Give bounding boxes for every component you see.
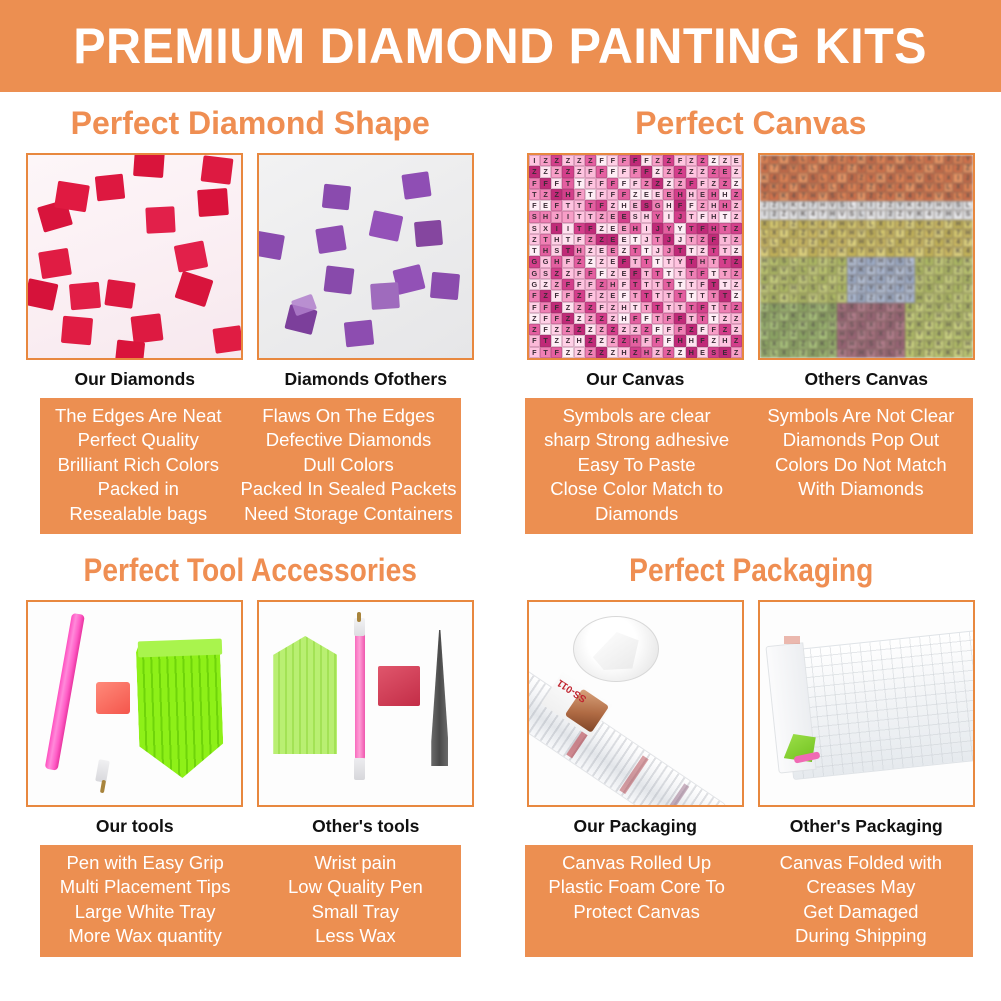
section-title-diamond-shape: Perfect Diamond Shape	[0, 92, 501, 153]
photo-white-tube: SS-011	[527, 600, 744, 807]
pen-cap-icon	[354, 758, 365, 780]
others-tools-art	[259, 602, 472, 805]
section-row-1: Perfect Diamond Shape	[0, 92, 1001, 534]
wax-square-icon	[96, 682, 130, 714]
page-header: PREMIUM DIAMOND PAINTING KITS	[0, 0, 1001, 92]
fact-line: Need Storage Containers	[241, 502, 457, 526]
mailer-art	[760, 602, 973, 805]
section-tools: Perfect Tool Accessories	[0, 552, 501, 957]
card-pair-tools: Our tools	[0, 600, 501, 837]
section-packaging: Perfect Packaging	[501, 552, 1001, 957]
green-tray-rim-icon	[138, 639, 223, 658]
mailer-seam-icon	[784, 636, 800, 644]
section-title-tools: Perfect Tool Accessories	[30, 552, 470, 600]
caption-others-canvas: Others Canvas	[758, 360, 975, 390]
section-title-packaging: Perfect Packaging	[531, 552, 971, 600]
our-tools-art	[28, 602, 241, 805]
fact-line: Resealable bags	[44, 502, 233, 526]
factbox-col-others-canvas: Symbols Are Not Clear Diamonds Pop Out C…	[749, 398, 973, 534]
section-row-2: Perfect Tool Accessories	[0, 552, 1001, 957]
fact-line: Multi Placement Tips	[44, 875, 246, 899]
photo-our-tools	[26, 600, 243, 807]
red-diamonds-art	[28, 155, 241, 358]
photo-purple-diamonds	[257, 153, 474, 360]
factbox-col-our-diamonds: The Edges Are Neat Perfect Quality Brill…	[40, 398, 237, 534]
blurry-canvas-art: 7HVSLXI2ZYK47HVSLXI2ZY47HVSLXI2ZYK47HVSL…	[760, 155, 973, 358]
factbox-canvas: Symbols are clear sharp Strong adhesive …	[525, 398, 974, 534]
fact-line: Packed in	[44, 477, 233, 501]
fact-line: During Shipping	[753, 924, 969, 948]
caption-others-tools: Other's tools	[257, 807, 474, 837]
fact-line: Diamonds	[529, 502, 745, 526]
fact-line: Wrist pain	[254, 851, 456, 875]
fact-line: Protect Canvas	[529, 900, 745, 924]
fact-line: The Edges Are Neat	[44, 404, 233, 428]
factbox-col-our-canvas: Symbols are clear sharp Strong adhesive …	[525, 398, 749, 534]
pink-canvas-art: IZZZZZFFFFFZZFZZZZEZZZZZFFFFFFZZZZZZEZFF…	[529, 155, 742, 358]
fact-line: Low Quality Pen	[254, 875, 456, 899]
canvas-blur-layer: 7HVSLXI2ZYK47HVSLXI2ZY47HVSLXI2ZYK47HVSL…	[760, 155, 973, 358]
factbox-col-our-tools: Pen with Easy Grip Multi Placement Tips …	[40, 845, 250, 957]
factbox-col-others-diamonds: Flaws On The Edges Defective Diamonds Du…	[237, 398, 461, 534]
card-pair-diamond-shape: Our Diamonds	[0, 153, 501, 390]
fact-line: Pen with Easy Grip	[44, 851, 246, 875]
factbox-col-others-packaging: Canvas Folded with Creases May Get Damag…	[749, 845, 973, 957]
factbox-tools: Pen with Easy Grip Multi Placement Tips …	[40, 845, 461, 957]
fact-line: Plastic Foam Core To	[529, 875, 745, 899]
card-others-diamonds: Diamonds Ofothers	[257, 153, 474, 390]
card-others-canvas: 7HVSLXI2ZYK47HVSLXI2ZY47HVSLXI2ZYK47HVSL…	[758, 153, 975, 390]
card-our-canvas: IZZZZZFFFFFZZFZZZZEZZZZZFFFFFFZZZZZZEZFF…	[527, 153, 744, 390]
caption-our-packaging: Our Packaging	[527, 807, 744, 837]
fact-line: Dull Colors	[241, 453, 457, 477]
caption-our-diamonds: Our Diamonds	[26, 360, 243, 390]
photo-red-square-diamonds	[26, 153, 243, 360]
tube-art: SS-011	[529, 602, 742, 805]
photo-bubble-mailer	[758, 600, 975, 807]
canvas-symbol-grid: IZZZZZFFFFFZZFZZZZEZZZZZFFFFFFZZZZZZEZFF…	[529, 155, 742, 358]
fact-line: Creases May	[753, 875, 969, 899]
fact-line: Get Damaged	[753, 900, 969, 924]
fact-line: With Diamonds	[753, 477, 969, 501]
fact-line: Canvas Rolled Up	[529, 851, 745, 875]
fact-line: Brilliant Rich Colors	[44, 453, 233, 477]
card-others-packaging: Other's Packaging	[758, 600, 975, 837]
fact-line: Symbols are clear	[529, 404, 745, 428]
fact-line: Diamonds Pop Out	[753, 428, 969, 452]
photo-others-tools	[257, 600, 474, 807]
caption-our-canvas: Our Canvas	[527, 360, 744, 390]
card-our-diamonds: Our Diamonds	[26, 153, 243, 390]
fact-line: Packed In Sealed Packets	[241, 477, 457, 501]
fact-line: Colors Do Not Match	[753, 453, 969, 477]
card-our-tools: Our tools	[26, 600, 243, 837]
section-title-canvas: Perfect Canvas	[501, 92, 1001, 153]
factbox-diamond-shape: The Edges Are Neat Perfect Quality Brill…	[40, 398, 461, 534]
photo-blurry-color-canvas: 7HVSLXI2ZYK47HVSLXI2ZY47HVSLXI2ZYK47HVSL…	[758, 153, 975, 360]
factbox-packaging: Canvas Rolled Up Plastic Foam Core To Pr…	[525, 845, 974, 957]
fact-line: Perfect Quality	[44, 428, 233, 452]
photo-pink-symbol-canvas: IZZZZZFFFFFZZFZZZZEZZZZZFFFFFFZZZZZZEZFF…	[527, 153, 744, 360]
infographic-page: PREMIUM DIAMOND PAINTING KITS Perfect Di…	[0, 0, 1001, 1001]
canvas-symbol-grid: 7HVSLXI2ZYK47HVSLXI2ZY47HVSLXI2ZYK47HVSL…	[760, 155, 973, 358]
fact-line: Large White Tray	[44, 900, 246, 924]
page-title: PREMIUM DIAMOND PAINTING KITS	[74, 17, 928, 75]
factbox-col-others-tools: Wrist pain Low Quality Pen Small Tray Le…	[250, 845, 460, 957]
green-tray-icon	[273, 636, 337, 754]
fact-line: Less Wax	[254, 924, 456, 948]
fact-line: More Wax quantity	[44, 924, 246, 948]
caption-others-diamonds: Diamonds Ofothers	[257, 360, 474, 390]
purple-diamonds-art	[259, 155, 472, 358]
wax-square-icon	[378, 666, 420, 706]
fact-line: Easy To Paste	[529, 453, 745, 477]
pink-pen-icon	[355, 632, 365, 760]
fact-line: Canvas Folded with	[753, 851, 969, 875]
caption-our-tools: Our tools	[26, 807, 243, 837]
fact-line: Symbols Are Not Clear	[753, 404, 969, 428]
card-our-packaging: SS-011 Our Packaging	[527, 600, 744, 837]
card-pair-packaging: SS-011 Our Packaging	[501, 600, 1001, 837]
fact-line: Defective Diamonds	[241, 428, 457, 452]
fact-line: sharp Strong adhesive	[529, 428, 745, 452]
fact-line: Small Tray	[254, 900, 456, 924]
fact-line: Flaws On The Edges	[241, 404, 457, 428]
fact-line: Close Color Match to	[529, 477, 745, 501]
factbox-col-our-packaging: Canvas Rolled Up Plastic Foam Core To Pr…	[525, 845, 749, 957]
section-canvas: Perfect Canvas IZZZZZFFFFFZZFZZZZEZZZZZF…	[501, 92, 1001, 534]
section-diamond-shape: Perfect Diamond Shape	[0, 92, 501, 534]
caption-others-packaging: Other's Packaging	[758, 807, 975, 837]
card-others-tools: Other's tools	[257, 600, 474, 837]
card-pair-canvas: IZZZZZFFFFFZZFZZZZEZZZZZFFFFFFZZZZZZEZFF…	[501, 153, 1001, 390]
pen-needle-icon	[357, 612, 361, 622]
